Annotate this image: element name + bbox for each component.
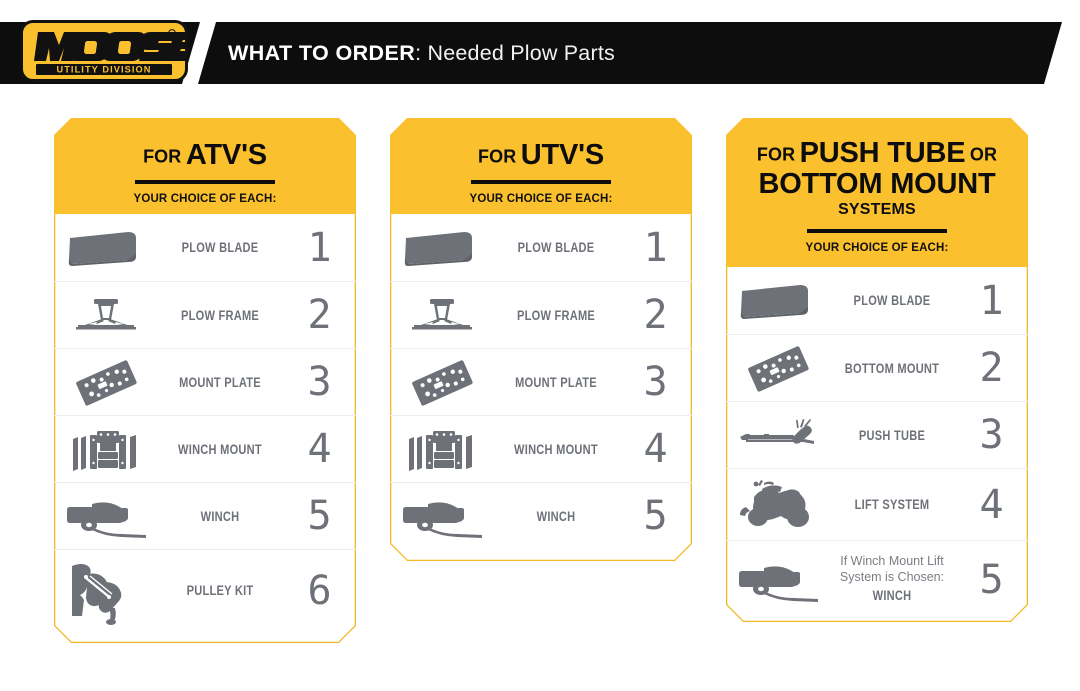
mount-plate-icon bbox=[54, 356, 158, 408]
part-number: 3 bbox=[282, 362, 356, 402]
card-inner: FOR UTV'S YOUR CHOICE OF EACH: PLOW BLAD… bbox=[390, 118, 692, 561]
plow-frame-icon bbox=[390, 293, 494, 337]
card-title-pre: FOR bbox=[478, 147, 516, 167]
card-title-line3: SYSTEMS bbox=[726, 202, 1028, 219]
svg-text:R: R bbox=[170, 31, 173, 36]
note-line-2: System is Chosen: bbox=[840, 570, 944, 584]
plow-blade-icon bbox=[726, 281, 830, 321]
part-label: PLOW BLADE bbox=[841, 293, 943, 308]
list-item[interactable]: If Winch Mount Lift System is Chosen: WI… bbox=[726, 540, 1028, 618]
list-item[interactable]: WINCH MOUNT 4 bbox=[54, 415, 356, 482]
card-subtitle: YOUR CHOICE OF EACH: bbox=[54, 193, 356, 205]
list-item[interactable]: WINCH 5 bbox=[54, 482, 356, 549]
part-label: BOTTOM MOUNT bbox=[841, 361, 943, 376]
winch-icon bbox=[726, 557, 830, 603]
page-title-bold: WHAT TO ORDER bbox=[228, 41, 415, 65]
list-item[interactable]: MOUNT PLATE 3 bbox=[390, 348, 692, 415]
list-item[interactable]: PULLEY KIT 6 bbox=[54, 549, 356, 631]
card-title: FOR ATV'S bbox=[54, 140, 356, 170]
card-subtitle: YOUR CHOICE OF EACH: bbox=[390, 193, 692, 205]
part-number: 2 bbox=[618, 295, 692, 335]
card-subtitle: YOUR CHOICE OF EACH: bbox=[726, 242, 1028, 254]
mount-plate-icon bbox=[726, 342, 830, 394]
title-divider bbox=[471, 180, 611, 184]
list-item[interactable]: PLOW BLADE 1 bbox=[390, 214, 692, 281]
part-label: PLOW BLADE bbox=[169, 240, 271, 255]
card-title-post: OR bbox=[970, 145, 997, 165]
logo-artwork: R UTILITY DIVISION bbox=[20, 20, 188, 82]
list-item[interactable]: PLOW BLADE 1 bbox=[54, 214, 356, 281]
winch-icon bbox=[390, 493, 494, 539]
atv-icon bbox=[726, 477, 830, 533]
card-header: FOR PUSH TUBE OR BOTTOM MOUNT SYSTEMS YO… bbox=[726, 118, 1028, 267]
part-number: 3 bbox=[954, 415, 1028, 455]
part-number: 1 bbox=[954, 281, 1028, 321]
part-number: 4 bbox=[618, 429, 692, 469]
card-title-line2: BOTTOM MOUNT bbox=[726, 169, 1028, 199]
plow-blade-icon bbox=[54, 228, 158, 268]
list-item[interactable]: PLOW BLADE 1 bbox=[726, 267, 1028, 334]
note-strong: WINCH bbox=[841, 588, 943, 605]
infographic-root: WHAT TO ORDER: Needed Plow Parts R bbox=[0, 0, 1080, 691]
part-label: PLOW FRAME bbox=[169, 308, 271, 323]
mount-plate-icon bbox=[390, 356, 494, 408]
logo-tagline: UTILITY DIVISION bbox=[56, 65, 151, 75]
list-item[interactable]: WINCH MOUNT 4 bbox=[390, 415, 692, 482]
list-item[interactable]: PUSH TUBE 3 bbox=[726, 401, 1028, 468]
part-number: 5 bbox=[282, 496, 356, 536]
card-inner: FOR ATV'S YOUR CHOICE OF EACH: PLOW BLAD… bbox=[54, 118, 356, 643]
list-item[interactable]: WINCH 5 bbox=[390, 482, 692, 549]
part-number: 5 bbox=[954, 560, 1028, 600]
title-divider bbox=[807, 229, 947, 233]
page-title-rest: : Needed Plow Parts bbox=[415, 41, 615, 65]
card-title-main: ATV'S bbox=[186, 139, 267, 171]
list-item[interactable]: PLOW FRAME 2 bbox=[390, 281, 692, 348]
part-number: 4 bbox=[954, 485, 1028, 525]
part-number: 6 bbox=[282, 571, 356, 611]
winch-mount-icon bbox=[54, 423, 158, 475]
card-header: FOR ATV'S YOUR CHOICE OF EACH: bbox=[54, 118, 356, 214]
card-title-pre: FOR bbox=[757, 145, 795, 165]
part-number: 4 bbox=[282, 429, 356, 469]
pulley-kit-icon bbox=[54, 556, 158, 626]
part-number: 1 bbox=[618, 228, 692, 268]
note-line-1: If Winch Mount Lift bbox=[840, 554, 944, 568]
part-label: PLOW BLADE bbox=[505, 240, 607, 255]
part-label: PUSH TUBE bbox=[841, 428, 943, 443]
part-label: WINCH MOUNT bbox=[505, 442, 607, 457]
list-item[interactable]: BOTTOM MOUNT 2 bbox=[726, 334, 1028, 401]
card-title: FOR PUSH TUBE OR BOTTOM MOUNT SYSTEMS bbox=[726, 138, 1028, 219]
card-utv: FOR UTV'S YOUR CHOICE OF EACH: PLOW BLAD… bbox=[390, 118, 692, 561]
parts-list: PLOW BLADE 1 bbox=[390, 214, 692, 549]
card-inner: FOR PUSH TUBE OR BOTTOM MOUNT SYSTEMS YO… bbox=[726, 118, 1028, 622]
part-label: PLOW FRAME bbox=[505, 308, 607, 323]
plow-frame-icon bbox=[54, 293, 158, 337]
winch-mount-icon bbox=[390, 423, 494, 475]
part-label: LIFT SYSTEM bbox=[841, 497, 943, 512]
moose-logo: R UTILITY DIVISION bbox=[20, 20, 188, 82]
parts-list: PLOW BLADE 1 bbox=[726, 267, 1028, 618]
part-number: 5 bbox=[618, 496, 692, 536]
part-number: 2 bbox=[282, 295, 356, 335]
part-label: WINCH bbox=[505, 509, 607, 524]
part-label: WINCH MOUNT bbox=[169, 442, 271, 457]
card-header: FOR UTV'S YOUR CHOICE OF EACH: bbox=[390, 118, 692, 214]
part-label: MOUNT PLATE bbox=[169, 375, 271, 390]
part-label: MOUNT PLATE bbox=[505, 375, 607, 390]
card-atv: FOR ATV'S YOUR CHOICE OF EACH: PLOW BLAD… bbox=[54, 118, 356, 643]
part-number: 3 bbox=[618, 362, 692, 402]
card-title-pre: FOR bbox=[143, 147, 181, 167]
plow-blade-icon bbox=[390, 228, 494, 268]
part-number: 1 bbox=[282, 228, 356, 268]
list-item[interactable]: PLOW FRAME 2 bbox=[54, 281, 356, 348]
page-title: WHAT TO ORDER: Needed Plow Parts bbox=[228, 22, 615, 84]
parts-list: PLOW BLADE 1 bbox=[54, 214, 356, 631]
part-label: PULLEY KIT bbox=[169, 583, 271, 598]
title-divider bbox=[135, 180, 275, 184]
list-item[interactable]: MOUNT PLATE 3 bbox=[54, 348, 356, 415]
part-label: WINCH bbox=[169, 509, 271, 524]
card-title-line1: FOR PUSH TUBE OR bbox=[726, 138, 1028, 168]
part-number: 2 bbox=[954, 348, 1028, 388]
push-tube-icon bbox=[726, 415, 830, 455]
card-title-main: PUSH TUBE bbox=[800, 137, 966, 169]
part-label-note: If Winch Mount Lift System is Chosen: WI… bbox=[830, 554, 954, 605]
card-title: FOR UTV'S bbox=[390, 140, 692, 170]
card-title-main: UTV'S bbox=[521, 139, 604, 171]
winch-icon bbox=[54, 493, 158, 539]
card-push-tube-bottom-mount: FOR PUSH TUBE OR BOTTOM MOUNT SYSTEMS YO… bbox=[726, 118, 1028, 622]
list-item[interactable]: LIFT SYSTEM 4 bbox=[726, 468, 1028, 540]
